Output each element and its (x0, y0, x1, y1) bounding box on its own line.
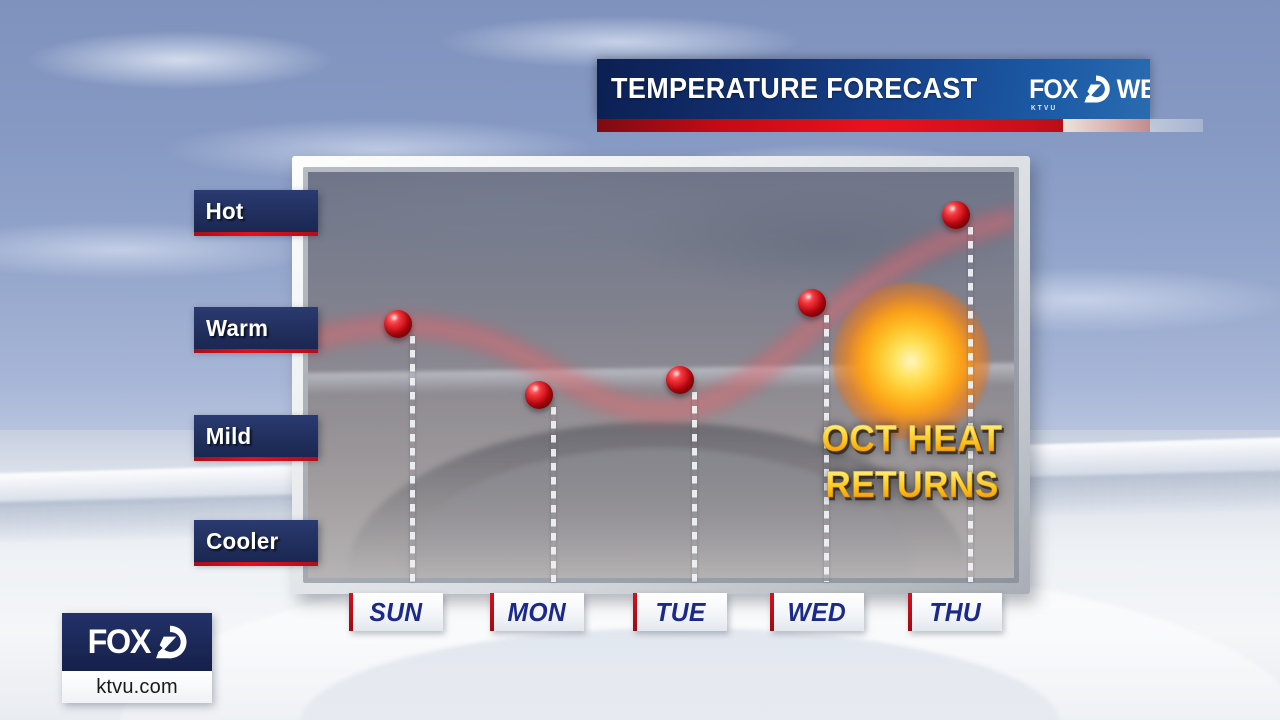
scale-label-mild-rule (194, 457, 318, 461)
day-label-tue-text: TUE (655, 597, 705, 628)
scale-label-cooler: Cooler (194, 520, 318, 562)
day-label-mon: MON (490, 593, 584, 631)
day-label-wed-accent (770, 593, 774, 631)
data-marker-mon (525, 381, 553, 409)
data-marker-sun (384, 310, 412, 338)
day-label-tue: TUE (633, 593, 727, 631)
data-marker-wed (798, 289, 826, 317)
logo-fox-text: FOX (1029, 74, 1077, 104)
scale-label-mild-text: Mild (206, 423, 252, 450)
day-label-thu-accent (908, 593, 912, 631)
header-banner: TEMPERATURE FORECAST FOX KTVU WEATHER (597, 59, 1150, 119)
scale-label-warm: Warm (194, 307, 318, 349)
logo-ktvu-text: KTVU (1031, 105, 1057, 112)
day-label-sun: SUN (349, 593, 443, 631)
banner-title: TEMPERATURE FORECAST (611, 73, 978, 106)
day-label-thu: THU (908, 593, 1002, 631)
scale-label-mild: Mild (194, 415, 318, 457)
station-bug-fox-text: FOX (87, 625, 149, 659)
scale-label-hot-rule (194, 232, 318, 236)
marker-stem-sun (410, 336, 415, 582)
logo-weather-text: WEATHER (1116, 74, 1150, 105)
scale-label-hot: Hot (194, 190, 318, 232)
logo-fox-wordmark: FOX KTVU (1029, 76, 1077, 103)
fox-two-swoosh-icon-bug (152, 624, 188, 660)
scale-label-warm-text: Warm (206, 315, 268, 342)
marker-stem-thu (968, 227, 973, 582)
data-marker-tue (666, 366, 694, 394)
marker-stem-tue (692, 392, 697, 582)
scale-label-hot-text: Hot (206, 198, 244, 225)
fox-two-swoosh-icon (1081, 74, 1111, 104)
day-label-mon-text: MON (508, 597, 566, 628)
day-label-thu-text: THU (929, 597, 981, 628)
sun-icon (832, 282, 990, 440)
scale-label-cooler-rule (194, 562, 318, 566)
day-label-sun-accent (349, 593, 353, 631)
fox-weather-logo: FOX KTVU WEATHER (1027, 74, 1150, 105)
marker-stem-mon (551, 407, 556, 582)
marker-stem-wed (824, 315, 829, 582)
banner-underline-tail (1063, 119, 1203, 132)
station-bug-url-bar: ktvu.com (62, 671, 212, 703)
station-bug: FOX ktvu.com (62, 613, 212, 703)
scale-label-cooler-text: Cooler (206, 528, 278, 555)
station-bug-url-text: ktvu.com (96, 676, 178, 699)
station-bug-logo: FOX (62, 613, 212, 671)
day-label-wed: WED (770, 593, 864, 631)
data-marker-thu (942, 201, 970, 229)
day-label-tue-accent (633, 593, 637, 631)
broadcast-weather-graphic: TEMPERATURE FORECAST FOX KTVU WEATHER (0, 0, 1280, 720)
scale-label-warm-rule (194, 349, 318, 353)
day-label-wed-text: WED (788, 597, 846, 628)
day-label-sun-text: SUN (369, 597, 422, 628)
day-label-mon-accent (490, 593, 494, 631)
